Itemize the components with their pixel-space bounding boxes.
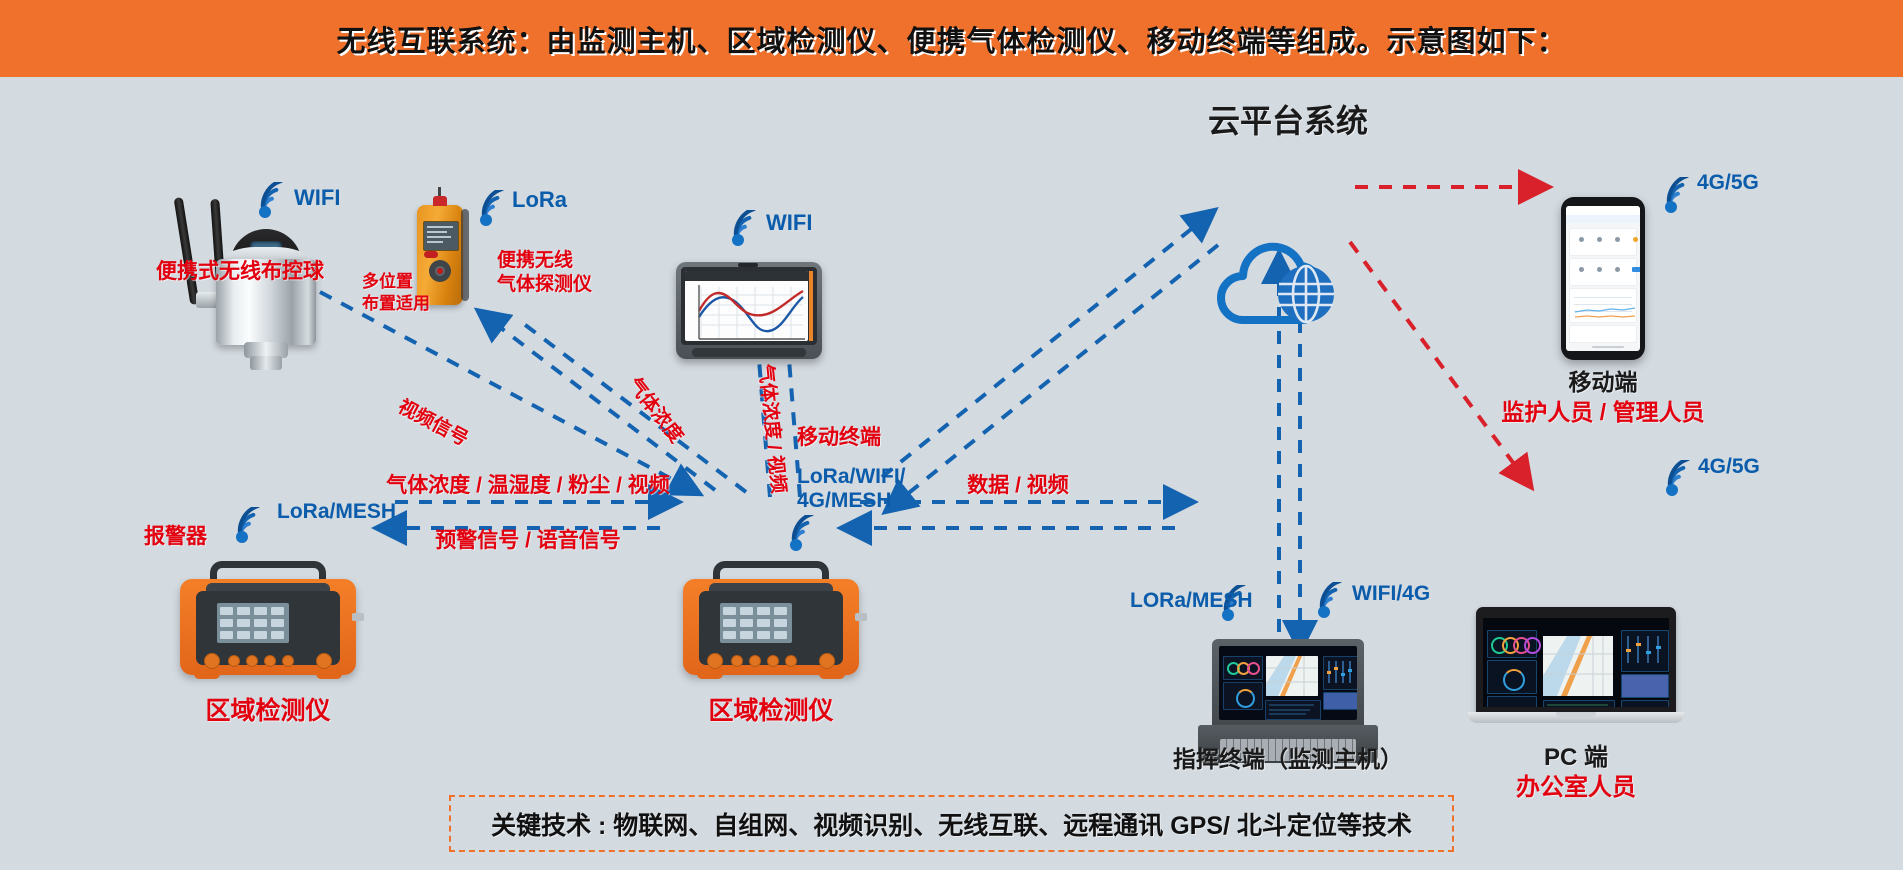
header-banner: 无线互联系统：由监测主机、区域检测仪、便携气体检测仪、移动终端等组成。示意图如下… — [0, 0, 1903, 77]
caption-pc: PC 端 — [1544, 744, 1608, 772]
tablet-button-strip — [692, 348, 806, 357]
terminal-log-panel — [1265, 700, 1321, 720]
cloud-platform-icon — [1213, 232, 1363, 337]
detector-foot-right — [316, 669, 342, 679]
detector-foot-left — [697, 669, 723, 679]
badge-terminal-lora-mesh: LORa/MESH — [1130, 589, 1253, 614]
pc-lid — [1476, 607, 1676, 714]
pc-video-panel — [1621, 674, 1669, 698]
pc-trackpad-notch — [1556, 712, 1596, 717]
badge-alarm-lora-mesh: LoRa/MESH — [277, 500, 396, 525]
detector-screen — [720, 603, 792, 643]
badge-phone-4g5g: 4G/5G — [1697, 171, 1759, 196]
device-handheld-gas-detector — [417, 205, 463, 305]
badge-center-detector-line1: LoRa/WIFI/ — [797, 465, 906, 490]
pc-meter-panel — [1621, 630, 1669, 672]
caption-phone: 移动端 — [1569, 369, 1638, 396]
detector-sensor-port — [352, 613, 364, 621]
detector-foot-right — [819, 669, 845, 679]
caption-area-detector-left: 区域检测仪 — [205, 697, 330, 727]
phone-tab-strip — [1566, 215, 1640, 223]
wifi-icon-terminal-right — [1312, 582, 1352, 620]
terminal-map — [1266, 656, 1318, 696]
edge-center-to-cloud — [882, 222, 1200, 477]
subcaption-phone: 监护人员 / 管理人员 — [1501, 399, 1704, 426]
edge-cloud-to-center — [900, 245, 1218, 500]
device-area-detector-center — [683, 561, 859, 681]
edge-label-alarm-uplink: 气体浓度 / 温湿度 / 粉尘 / 视频 — [386, 474, 670, 499]
detector-button-row — [707, 653, 835, 667]
badge-pc-4g5g: 4G/5G — [1698, 455, 1760, 480]
phone-list-card — [1569, 325, 1637, 343]
phone-stat-card-1 — [1569, 228, 1637, 256]
tablet-screen — [685, 271, 808, 341]
caption-area-detector-center: 区域检测仪 — [708, 697, 833, 727]
pc-donut-panel — [1487, 660, 1537, 694]
wifi-icon-pc — [1660, 460, 1700, 498]
device-side-shadow — [461, 209, 469, 301]
pc-gauge-panel — [1487, 630, 1537, 658]
tablet-camera-icon — [738, 263, 758, 267]
badge-tablet-wifi: WIFI — [766, 210, 812, 236]
pc-left-list-panel — [1487, 696, 1537, 707]
note-alarm-device: 报警器 — [144, 525, 207, 550]
device-rugged-tablet — [676, 262, 822, 359]
device-area-detector-left — [180, 561, 356, 681]
wifi-icon-phone — [1659, 177, 1699, 215]
detector-button-row — [204, 653, 332, 667]
badge-handheld-lora: LoRa — [512, 187, 567, 213]
edge-label-alarm-downlink: 预警信号 / 语音信号 — [435, 529, 621, 554]
pc-right-list-panel — [1621, 700, 1669, 707]
handheld-red-button — [424, 251, 438, 258]
tablet-accent-strip — [809, 271, 813, 341]
edge-label-data-video: 数据 / 视频 — [967, 474, 1069, 499]
caption-handheld-line2: 气体探测仪 — [497, 274, 592, 296]
badge-center-detector-line2: 4G/MESH — [797, 489, 892, 514]
pc-screen — [1483, 618, 1669, 707]
note-handheld-line1: 多位置 — [362, 272, 413, 292]
badge-terminal-wifi-4g: WIFI/4G — [1352, 582, 1430, 607]
terminal-gauge-panel — [1223, 656, 1263, 680]
wifi-icon-tablet — [726, 210, 766, 248]
detector-screen — [217, 603, 289, 643]
note-handheld-line2: 布置适用 — [362, 294, 430, 314]
diagram-stage: WIFI 便携式无线布控球 LoRa 便携无线 气体探测仪 多位置 布置适用 — [0, 77, 1903, 870]
terminal-video-panel — [1323, 692, 1357, 710]
caption-handheld-line1: 便携无线 — [497, 250, 573, 272]
terminal-meter-panel — [1323, 656, 1357, 690]
antenna-left — [174, 197, 200, 305]
caption-camera: 便携式无线布控球 — [156, 260, 324, 285]
detector-sensor-port — [855, 613, 867, 621]
detector-foot-left — [194, 669, 220, 679]
phone-trend-chart — [1569, 288, 1637, 323]
device-pc-laptop — [1468, 607, 1684, 739]
pc-log-panel — [1543, 700, 1615, 707]
caption-tablet: 移动终端 — [797, 426, 881, 451]
tablet-statusbar — [685, 271, 808, 281]
page-title: 无线互联系统：由监测主机、区域检测仪、便携气体检测仪、移动终端等组成。示意图如下… — [336, 18, 1566, 60]
globe-icon — [1278, 266, 1334, 322]
device-mobile-phone — [1561, 197, 1645, 360]
terminal-donut-panel — [1223, 682, 1263, 710]
wifi-icon-camera — [253, 182, 293, 220]
phone-stat-card-2 — [1569, 258, 1637, 286]
terminal-screen — [1219, 646, 1357, 720]
wifi-icon-center-detector — [784, 515, 824, 553]
title-cloud-platform: 云平台系统 — [1208, 103, 1368, 141]
terminal-lid — [1212, 639, 1364, 727]
camera-base — [250, 356, 282, 370]
phone-screen — [1566, 206, 1640, 351]
caption-command-terminal: 指挥终端（监测主机） — [1173, 746, 1403, 773]
badge-camera-wifi: WIFI — [294, 185, 340, 211]
alarm-lamp — [433, 196, 447, 206]
edge-cloud-to-pc — [1350, 242, 1520, 472]
wifi-icon-alarm-detector — [230, 507, 270, 545]
key-technologies-text: 关键技术 : 物联网、自组网、视频识别、无线互联、远程通讯 GPS/ 北斗定位等… — [491, 806, 1412, 842]
phone-home-indicator — [1592, 346, 1624, 348]
handheld-screen — [423, 221, 459, 251]
subcaption-pc: 办公室人员 — [1516, 774, 1636, 802]
handheld-dpad — [429, 260, 451, 282]
key-technologies-box: 关键技术 : 物联网、自组网、视频识别、无线互联、远程通讯 GPS/ 北斗定位等… — [449, 795, 1454, 852]
wifi-icon-handheld — [474, 190, 514, 228]
pc-map — [1543, 636, 1613, 696]
